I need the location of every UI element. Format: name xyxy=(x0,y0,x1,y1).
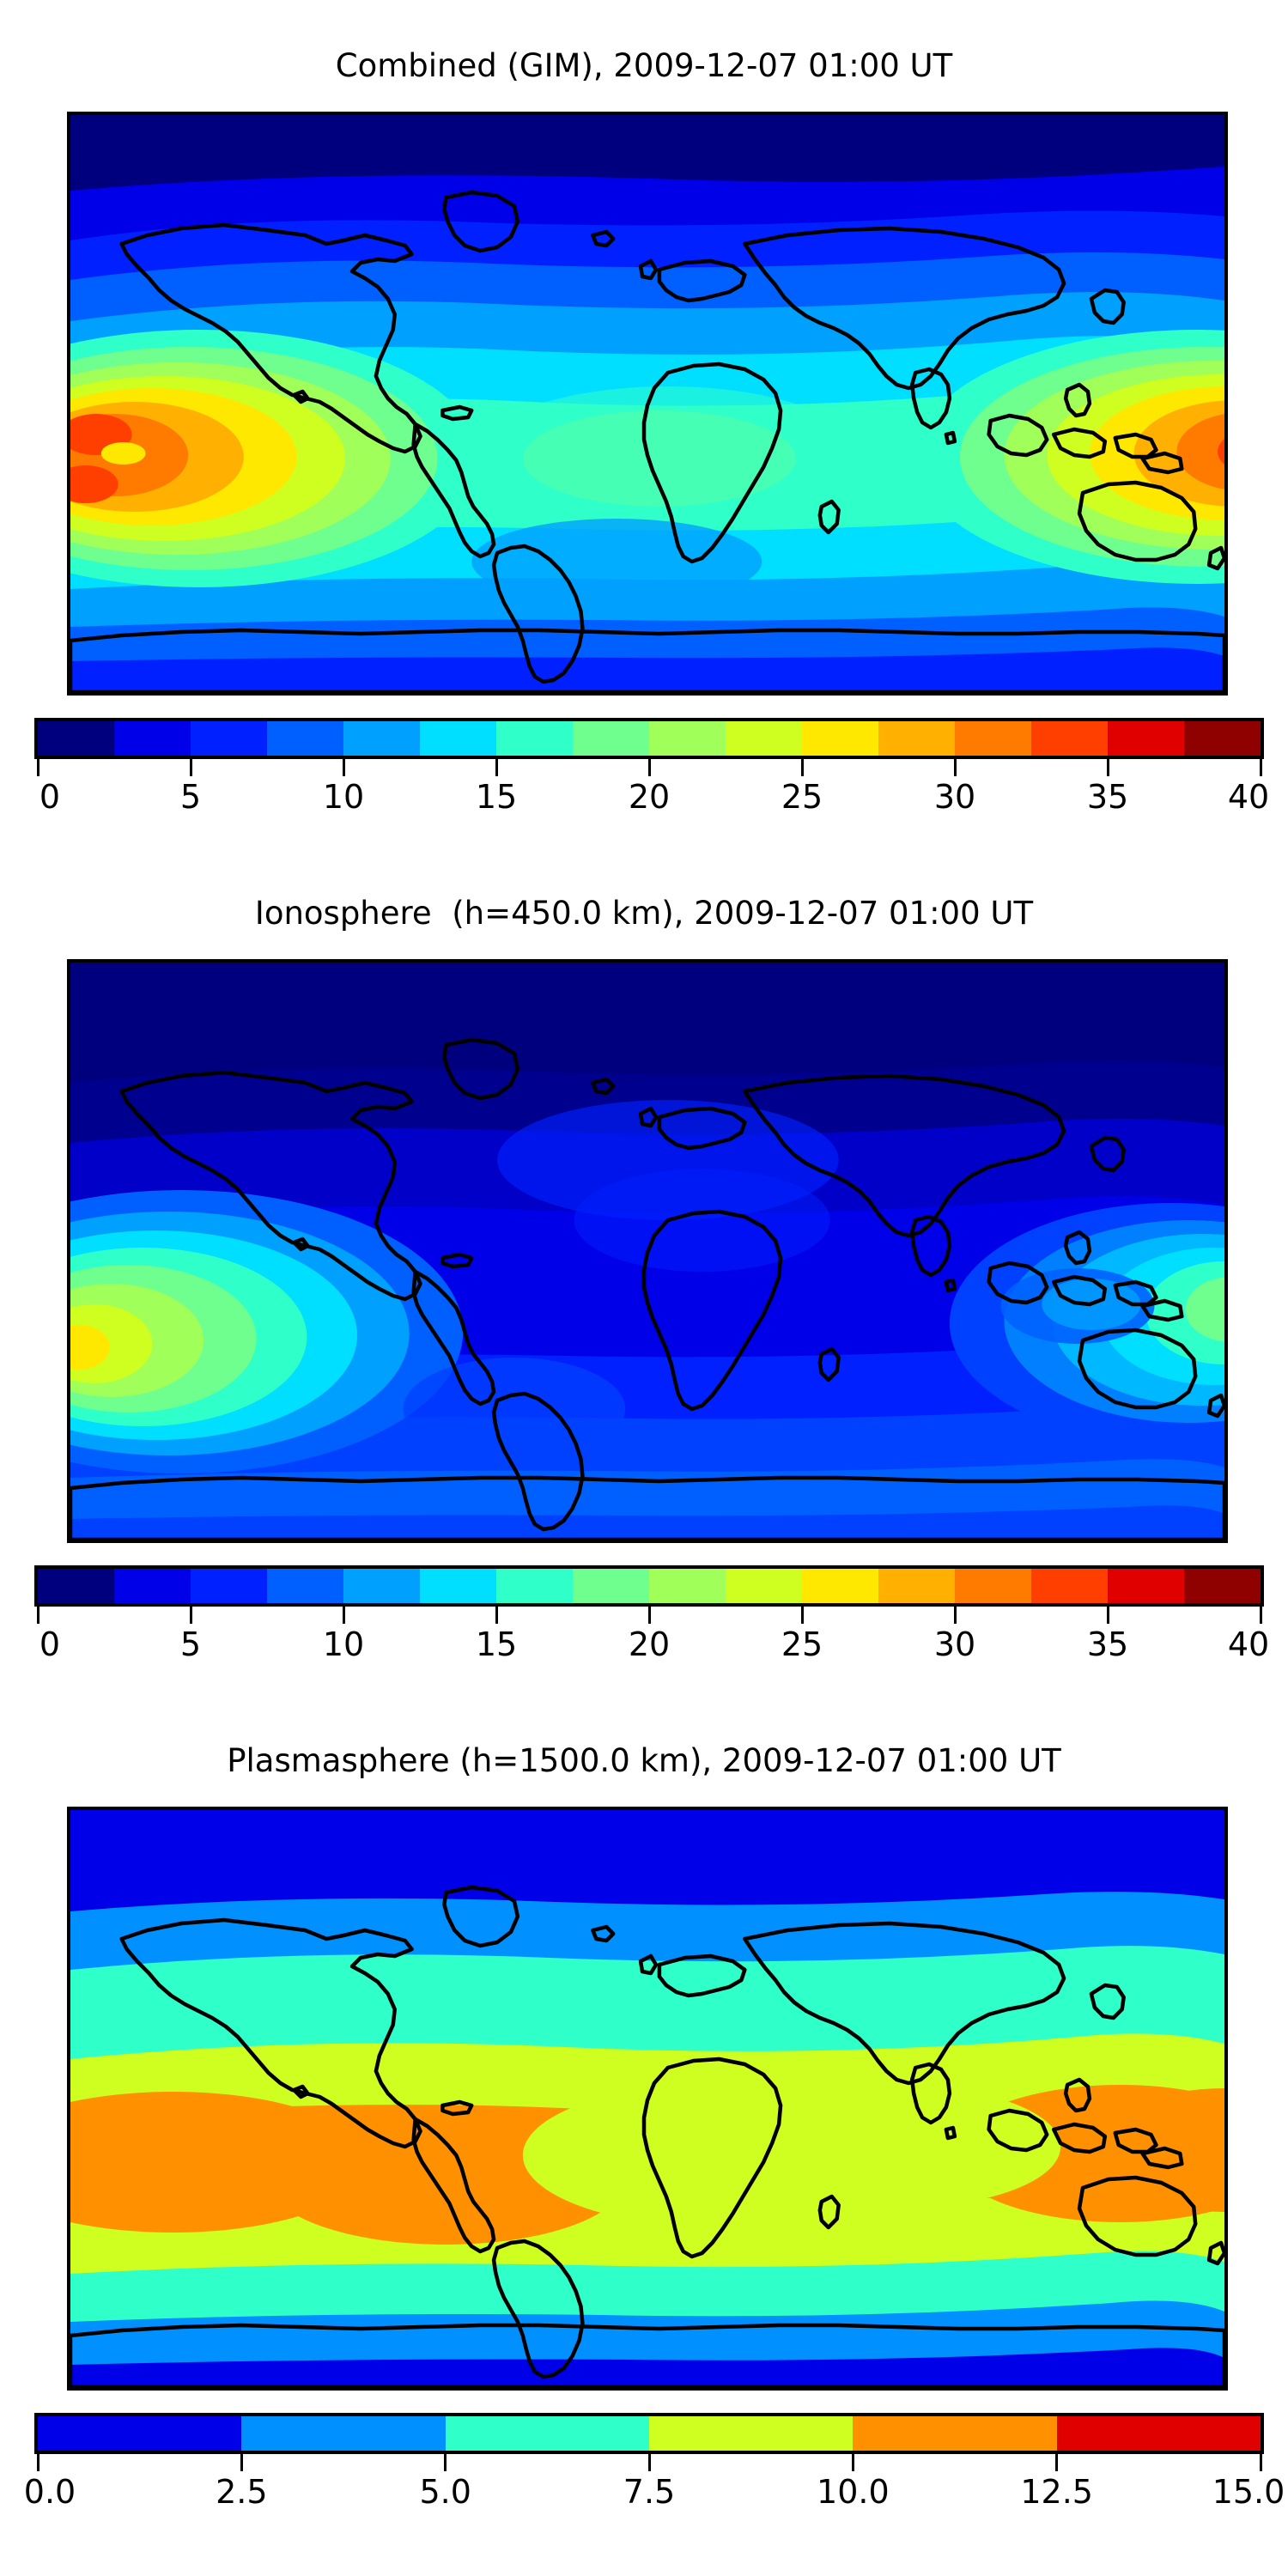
colorbar-tick-label: 40 xyxy=(1228,1625,1269,1663)
colorbar-tick-label: 5.0 xyxy=(419,2473,471,2511)
map-ionosphere xyxy=(67,959,1228,1543)
colorbar-band-0 xyxy=(38,1569,114,1603)
colorbar-tick-labels-2: 0510152025303540 xyxy=(34,1625,1264,1674)
map-combined-gim xyxy=(67,112,1228,696)
map-svg-plasmasphere xyxy=(70,1810,1224,2387)
colorbar-band-14 xyxy=(1108,1569,1184,1603)
map-svg-combined xyxy=(70,115,1224,692)
colorbar-tick xyxy=(954,1607,957,1624)
colorbar-tick xyxy=(1055,2454,1058,2471)
colorbar-tick xyxy=(954,759,957,776)
colorbar-tick-labels-3: 0.02.55.07.510.012.515.0 xyxy=(34,2473,1264,2521)
panel-combined-gim: Combined (GIM), 2009-12-07 01:00 UT xyxy=(0,50,1288,82)
colorbar-tick xyxy=(343,1607,345,1624)
colorbar-tick-label: 20 xyxy=(629,778,670,816)
colorbar-band-5 xyxy=(420,721,496,756)
colorbar-gradient-1 xyxy=(34,718,1264,759)
colorbar-ticks-2 xyxy=(34,1607,1264,1625)
colorbar-band-6 xyxy=(496,1569,573,1603)
colorbar-tick xyxy=(801,1607,804,1624)
colorbar-band-5 xyxy=(1057,2416,1261,2451)
colorbar-tick-label: 5 xyxy=(180,1625,201,1663)
colorbar-band-3 xyxy=(267,721,343,756)
colorbar-band-10 xyxy=(802,721,878,756)
colorbar-tick xyxy=(495,759,498,776)
colorbar-gradient-3 xyxy=(34,2413,1264,2454)
colorbar-tick-label: 2.5 xyxy=(216,2473,267,2511)
colorbar-combined-gim: 0510152025303540 xyxy=(34,718,1264,829)
colorbar-tick xyxy=(444,2454,447,2471)
colorbar-band-12 xyxy=(955,721,1031,756)
colorbar-band-3 xyxy=(649,2416,853,2451)
map-plasmasphere xyxy=(67,1807,1228,2391)
colorbar-tick xyxy=(648,759,651,776)
colorbar-band-8 xyxy=(649,1569,726,1603)
colorbar-band-14 xyxy=(1108,721,1184,756)
colorbar-tick xyxy=(37,2454,39,2471)
colorbar-tick-label: 40 xyxy=(1228,778,1269,816)
colorbar-tick xyxy=(495,1607,498,1624)
colorbar-tick xyxy=(1260,759,1262,776)
colorbar-band-3 xyxy=(267,1569,343,1603)
colorbar-band-13 xyxy=(1031,1569,1108,1603)
colorbar-tick xyxy=(240,2454,243,2471)
colorbar-tick-label: 0 xyxy=(39,1625,60,1663)
colorbar-band-6 xyxy=(496,721,573,756)
colorbar-tick xyxy=(190,1607,192,1624)
colorbar-band-4 xyxy=(343,1569,420,1603)
colorbar-band-1 xyxy=(114,721,191,756)
colorbar-tick-label: 0.0 xyxy=(24,2473,76,2511)
colorbar-tick-label: 10.0 xyxy=(817,2473,890,2511)
colorbar-ticks-1 xyxy=(34,759,1264,778)
panel-title: Plasmasphere (h=1500.0 km), 2009-12-07 0… xyxy=(0,1745,1288,1777)
colorbar-gradient-2 xyxy=(34,1565,1264,1607)
colorbar-band-10 xyxy=(802,1569,878,1603)
colorbar-tick-label: 0 xyxy=(39,778,60,816)
colorbar-band-9 xyxy=(726,721,802,756)
colorbar-tick xyxy=(1260,1607,1262,1624)
colorbar-band-7 xyxy=(573,721,649,756)
colorbar-tick-label: 5 xyxy=(180,778,201,816)
colorbar-band-2 xyxy=(191,1569,267,1603)
colorbar-tick-label: 12.5 xyxy=(1020,2473,1093,2511)
colorbar-band-1 xyxy=(241,2416,445,2451)
colorbar-tick xyxy=(37,759,39,776)
map-svg-ionosphere xyxy=(70,963,1224,1540)
colorbar-band-0 xyxy=(38,721,114,756)
colorbar-band-2 xyxy=(191,721,267,756)
panel-title: Ionosphere (h=450.0 km), 2009-12-07 01:0… xyxy=(0,897,1288,929)
colorbar-plasmasphere: 0.02.55.07.510.012.515.0 xyxy=(34,2413,1264,2524)
colorbar-tick xyxy=(190,759,192,776)
colorbar-tick xyxy=(1107,759,1109,776)
colorbar-band-11 xyxy=(878,1569,955,1603)
colorbar-tick-labels-1: 0510152025303540 xyxy=(34,778,1264,826)
colorbar-band-15 xyxy=(1184,721,1261,756)
colorbar-tick xyxy=(1260,2454,1262,2471)
colorbar-ticks-3 xyxy=(34,2454,1264,2473)
colorbar-band-12 xyxy=(955,1569,1031,1603)
colorbar-band-8 xyxy=(649,721,726,756)
colorbar-tick xyxy=(1107,1607,1109,1624)
colorbar-tick-label: 15.0 xyxy=(1212,2473,1285,2511)
colorbar-tick-label: 15 xyxy=(476,1625,517,1663)
colorbar-tick-label: 25 xyxy=(781,1625,823,1663)
panel-plasmasphere: Plasmasphere (h=1500.0 km), 2009-12-07 0… xyxy=(0,1745,1288,1777)
colorbar-ionosphere: 0510152025303540 xyxy=(34,1565,1264,1677)
colorbar-band-2 xyxy=(446,2416,649,2451)
colorbar-tick-label: 15 xyxy=(476,778,517,816)
colorbar-tick-label: 35 xyxy=(1087,1625,1128,1663)
colorbar-tick-label: 10 xyxy=(323,778,364,816)
colorbar-band-13 xyxy=(1031,721,1108,756)
colorbar-tick-label: 30 xyxy=(934,778,975,816)
colorbar-tick xyxy=(648,1607,651,1624)
colorbar-tick-label: 25 xyxy=(781,778,823,816)
colorbar-tick xyxy=(648,2454,651,2471)
colorbar-band-9 xyxy=(726,1569,802,1603)
colorbar-band-4 xyxy=(343,721,420,756)
colorbar-tick-label: 20 xyxy=(629,1625,670,1663)
panel-title: Combined (GIM), 2009-12-07 01:00 UT xyxy=(0,50,1288,82)
figure-canvas: Combined (GIM), 2009-12-07 01:00 UT xyxy=(0,0,1288,2576)
colorbar-band-1 xyxy=(114,1569,191,1603)
colorbar-band-0 xyxy=(38,2416,241,2451)
colorbar-band-5 xyxy=(420,1569,496,1603)
colorbar-tick xyxy=(343,759,345,776)
colorbar-band-11 xyxy=(878,721,955,756)
colorbar-tick-label: 7.5 xyxy=(623,2473,675,2511)
panel-ionosphere: Ionosphere (h=450.0 km), 2009-12-07 01:0… xyxy=(0,897,1288,929)
colorbar-band-4 xyxy=(853,2416,1056,2451)
colorbar-tick xyxy=(801,759,804,776)
colorbar-band-7 xyxy=(573,1569,649,1603)
colorbar-tick-label: 35 xyxy=(1087,778,1128,816)
colorbar-tick-label: 10 xyxy=(323,1625,364,1663)
colorbar-tick-label: 30 xyxy=(934,1625,975,1663)
colorbar-tick xyxy=(37,1607,39,1624)
colorbar-tick xyxy=(852,2454,854,2471)
colorbar-band-15 xyxy=(1184,1569,1261,1603)
